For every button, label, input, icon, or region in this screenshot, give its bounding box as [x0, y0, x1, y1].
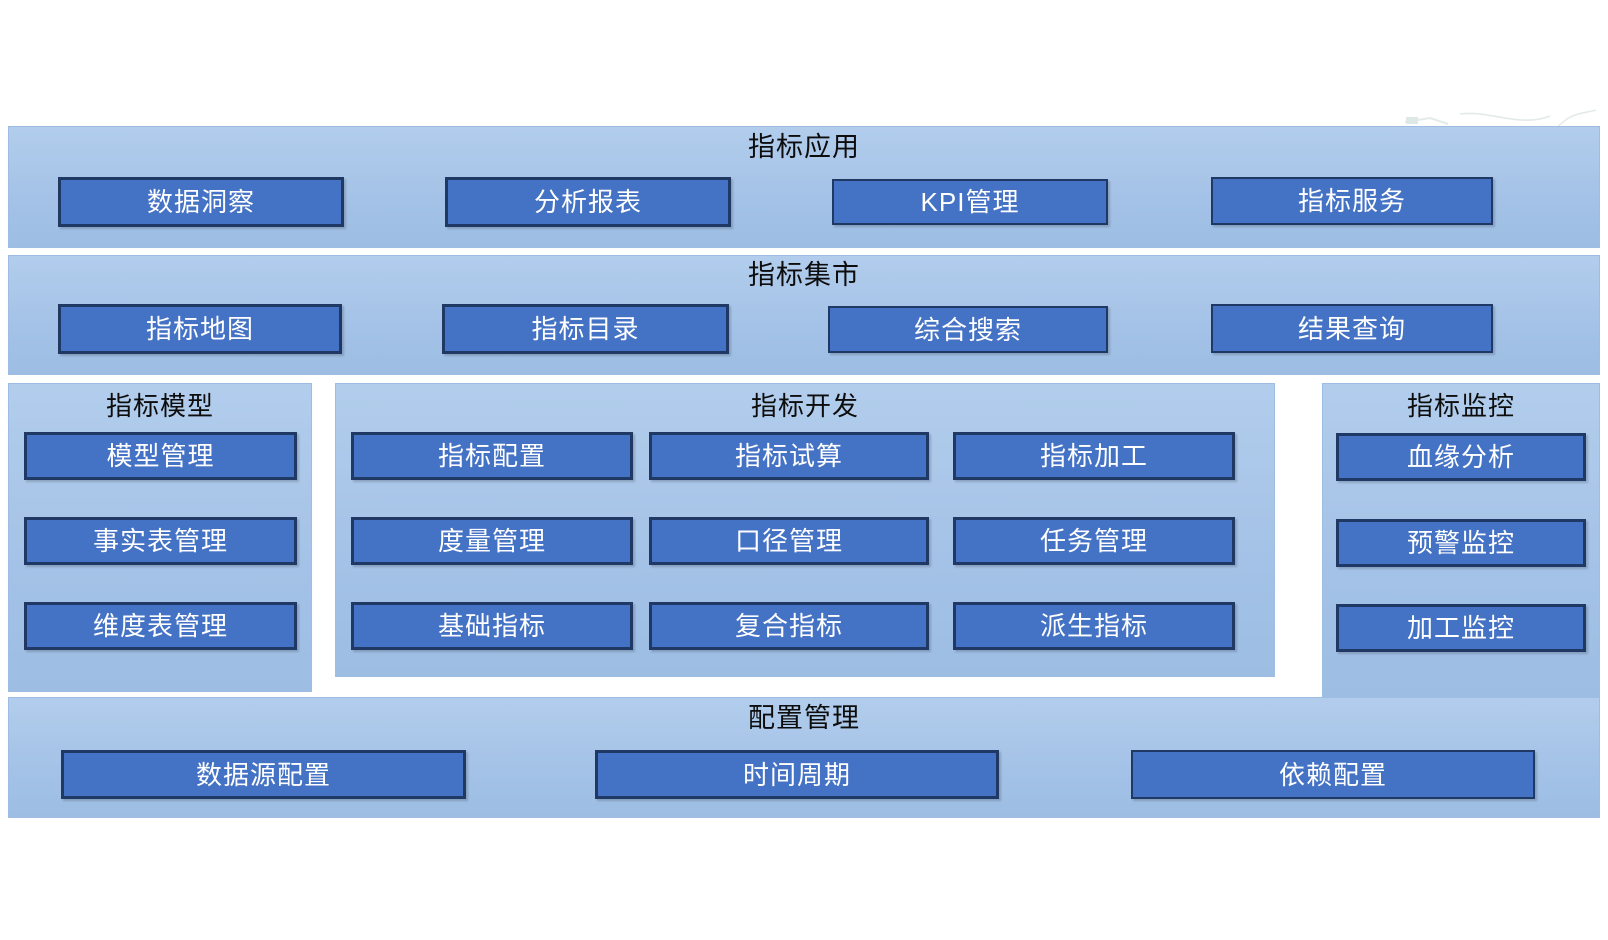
section-monitoring-title: 指标监控: [1323, 390, 1599, 422]
button-metric-catalog[interactable]: 指标目录: [442, 304, 729, 354]
section-mart-title: 指标集市: [9, 259, 1599, 291]
button-measure-management[interactable]: 度量管理: [351, 517, 633, 565]
button-task-management[interactable]: 任务管理: [953, 517, 1235, 565]
button-caliber-management[interactable]: 口径管理: [649, 517, 929, 565]
section-application: 指标应用 数据洞察 分析报表 KPI管理 指标服务: [8, 126, 1600, 248]
section-mart: 指标集市 指标地图 指标目录 综合搜索 结果查询: [8, 255, 1600, 375]
button-metric-map[interactable]: 指标地图: [58, 304, 342, 354]
button-time-period[interactable]: 时间周期: [595, 750, 999, 799]
button-analysis-report[interactable]: 分析报表: [445, 177, 731, 227]
button-metric-configuration[interactable]: 指标配置: [351, 432, 633, 480]
button-metric-trial-calculation[interactable]: 指标试算: [649, 432, 929, 480]
section-development: 指标开发 指标配置 指标试算 指标加工 度量管理 口径管理 任务管理 基础指标 …: [335, 383, 1275, 677]
architecture-diagram-canvas: 指标应用 数据洞察 分析报表 KPI管理 指标服务 指标集市 指标地图 指标目录…: [0, 0, 1608, 940]
button-metric-service[interactable]: 指标服务: [1211, 177, 1493, 225]
button-basic-metric[interactable]: 基础指标: [351, 602, 633, 650]
section-configuration: 配置管理 数据源配置 时间周期 依赖配置: [8, 697, 1600, 818]
button-datasource-configuration[interactable]: 数据源配置: [61, 750, 466, 799]
button-dependency-configuration[interactable]: 依赖配置: [1131, 750, 1535, 799]
button-lineage-analysis[interactable]: 血缘分析: [1336, 433, 1586, 481]
button-integrated-search[interactable]: 综合搜索: [828, 306, 1108, 353]
button-alert-monitoring[interactable]: 预警监控: [1336, 519, 1586, 567]
section-application-title: 指标应用: [9, 131, 1599, 163]
section-model: 指标模型 模型管理 事实表管理 维度表管理: [8, 383, 312, 692]
button-derived-metric[interactable]: 派生指标: [953, 602, 1235, 650]
section-model-title: 指标模型: [9, 390, 311, 422]
button-data-insight[interactable]: 数据洞察: [58, 177, 344, 227]
section-monitoring: 指标监控 血缘分析 预警监控 加工监控: [1322, 383, 1600, 697]
button-result-query[interactable]: 结果查询: [1211, 304, 1493, 353]
section-development-title: 指标开发: [336, 390, 1274, 422]
button-dimension-table-management[interactable]: 维度表管理: [24, 602, 297, 650]
button-metric-processing[interactable]: 指标加工: [953, 432, 1235, 480]
button-kpi-management[interactable]: KPI管理: [832, 179, 1108, 225]
section-configuration-title: 配置管理: [9, 702, 1599, 734]
button-composite-metric[interactable]: 复合指标: [649, 602, 929, 650]
button-fact-table-management[interactable]: 事实表管理: [24, 517, 297, 565]
button-processing-monitoring[interactable]: 加工监控: [1336, 604, 1586, 652]
button-model-management[interactable]: 模型管理: [24, 432, 297, 480]
